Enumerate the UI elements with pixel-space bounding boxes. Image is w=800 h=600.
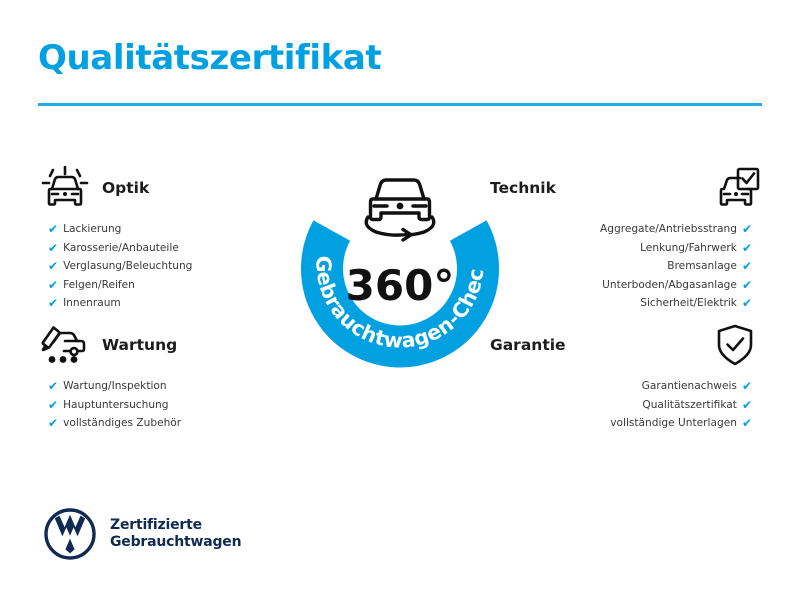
section-garantie: Garantie Garantienachweis✔ Qualitätszert… bbox=[490, 322, 762, 433]
checklist: Garantienachweis✔ Qualitätszertifikat✔ v… bbox=[490, 377, 762, 433]
list-item-label: Aggregate/Antriebsstrang bbox=[600, 220, 737, 239]
check-icon: ✔ bbox=[48, 414, 58, 433]
check-icon: ✔ bbox=[48, 396, 58, 415]
shield-check-icon bbox=[708, 322, 762, 368]
section-title: Wartung bbox=[102, 336, 177, 359]
badge-360-gebrauchtwagen-check: Gebrauchtwagen-Check 360° bbox=[292, 152, 508, 380]
page-title: Qualitätszertifikat bbox=[38, 38, 381, 78]
list-item: ✔Innenraum bbox=[48, 294, 310, 313]
list-item-label: Unterboden/Abgasanlage bbox=[602, 276, 737, 295]
list-item-label: Lackierung bbox=[63, 220, 121, 239]
badge-center-label: 360° bbox=[346, 261, 455, 310]
check-icon: ✔ bbox=[742, 276, 752, 295]
footer-text: Zertifizierte Gebrauchtwagen bbox=[110, 517, 241, 551]
list-item-label: Bremsanlage bbox=[667, 257, 737, 276]
list-item: Lenkung/Fahrwerk✔ bbox=[490, 239, 752, 258]
list-item: Bremsanlage✔ bbox=[490, 257, 752, 276]
section-title: Optik bbox=[102, 179, 149, 202]
checklist: ✔Lackierung ✔Karosserie/Anbauteile ✔Verg… bbox=[38, 220, 310, 313]
car-checkbox-icon bbox=[708, 165, 762, 211]
list-item: Garantienachweis✔ bbox=[490, 377, 752, 396]
footer-line-1: Zertifizierte bbox=[110, 517, 202, 533]
check-icon: ✔ bbox=[742, 396, 752, 415]
list-item: ✔Wartung/Inspektion bbox=[48, 377, 310, 396]
checklist: ✔Wartung/Inspektion ✔Hauptuntersuchung ✔… bbox=[38, 377, 310, 433]
list-item: Unterboden/Abgasanlage✔ bbox=[490, 276, 752, 295]
section-header: Technik bbox=[490, 165, 762, 211]
check-icon: ✔ bbox=[742, 414, 752, 433]
section-optik: Optik ✔Lackierung ✔Karosserie/Anbauteile… bbox=[38, 165, 310, 313]
list-item: ✔Felgen/Reifen bbox=[48, 276, 310, 295]
check-icon: ✔ bbox=[742, 239, 752, 258]
list-item-label: Wartung/Inspektion bbox=[63, 377, 167, 396]
list-item: ✔Verglasung/Beleuchtung bbox=[48, 257, 310, 276]
list-item-label: Qualitätszertifikat bbox=[642, 396, 737, 415]
list-item-label: Innenraum bbox=[63, 294, 121, 313]
list-item: Sicherheit/Elektrik✔ bbox=[490, 294, 752, 313]
check-icon: ✔ bbox=[48, 239, 58, 258]
check-icon: ✔ bbox=[742, 377, 752, 396]
list-item-label: Karosserie/Anbauteile bbox=[63, 239, 179, 258]
list-item: Aggregate/Antriebsstrang✔ bbox=[490, 220, 752, 239]
list-item: ✔Hauptuntersuchung bbox=[48, 396, 310, 415]
list-item-label: Verglasung/Beleuchtung bbox=[63, 257, 192, 276]
section-header: Wartung bbox=[38, 322, 310, 368]
section-header: Optik bbox=[38, 165, 310, 211]
check-icon: ✔ bbox=[742, 257, 752, 276]
section-technik: Technik Aggregate/Antriebsstrang✔ Lenkun… bbox=[490, 165, 762, 313]
list-item: vollständige Unterlagen✔ bbox=[490, 414, 752, 433]
section-wartung: Wartung ✔Wartung/Inspektion ✔Hauptunters… bbox=[38, 322, 310, 433]
vw-logo-icon bbox=[44, 508, 96, 560]
section-title-wrap: Technik bbox=[490, 178, 708, 197]
footer-line-2: Gebrauchtwagen bbox=[110, 534, 241, 550]
check-icon: ✔ bbox=[742, 294, 752, 313]
check-icon: ✔ bbox=[48, 377, 58, 396]
list-item: ✔Karosserie/Anbauteile bbox=[48, 239, 310, 258]
check-icon: ✔ bbox=[48, 276, 58, 295]
car-shine-icon bbox=[38, 165, 92, 211]
list-item: ✔Lackierung bbox=[48, 220, 310, 239]
list-item-label: Hauptuntersuchung bbox=[63, 396, 168, 415]
section-title-wrap: Garantie bbox=[490, 335, 708, 354]
section-title-wrap: Wartung bbox=[92, 335, 310, 354]
footer-brand: Zertifizierte Gebrauchtwagen bbox=[44, 508, 241, 560]
check-icon: ✔ bbox=[48, 220, 58, 239]
list-item: ✔vollständiges Zubehör bbox=[48, 414, 310, 433]
list-item-label: Felgen/Reifen bbox=[63, 276, 135, 295]
section-title-wrap: Optik bbox=[92, 178, 310, 197]
header-divider bbox=[38, 103, 762, 106]
check-icon: ✔ bbox=[48, 294, 58, 313]
list-item-label: Sicherheit/Elektrik bbox=[640, 294, 737, 313]
check-icon: ✔ bbox=[48, 257, 58, 276]
car-service-pen-icon bbox=[38, 322, 92, 368]
car-rotation-icon bbox=[366, 180, 434, 240]
list-item-label: vollständiges Zubehör bbox=[63, 414, 181, 433]
checklist: Aggregate/Antriebsstrang✔ Lenkung/Fahrwe… bbox=[490, 220, 762, 313]
list-item-label: Lenkung/Fahrwerk bbox=[640, 239, 737, 258]
section-header: Garantie bbox=[490, 322, 762, 368]
list-item-label: Garantienachweis bbox=[642, 377, 737, 396]
list-item-label: vollständige Unterlagen bbox=[610, 414, 737, 433]
check-icon: ✔ bbox=[742, 220, 752, 239]
list-item: Qualitätszertifikat✔ bbox=[490, 396, 752, 415]
